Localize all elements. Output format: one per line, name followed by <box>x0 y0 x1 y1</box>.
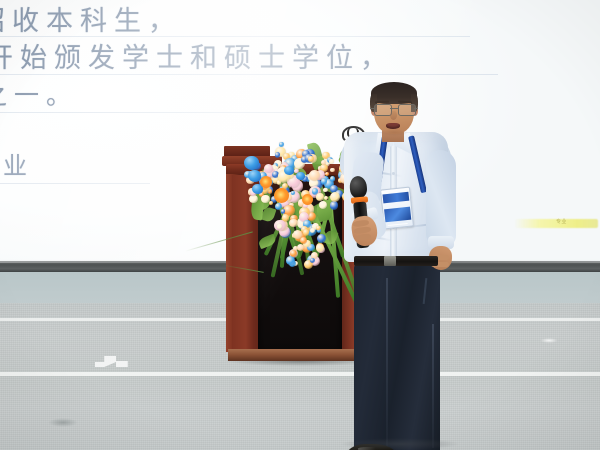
microphone-grille <box>349 175 368 198</box>
bouquet-flower <box>286 256 295 265</box>
bouquet-flower <box>310 258 315 263</box>
arm-right <box>426 150 456 246</box>
bouquet-flower <box>289 219 298 228</box>
bouquet-flower-orange <box>260 176 272 188</box>
bouquet-flower-blue <box>248 170 261 182</box>
bouquet-flower <box>261 195 270 204</box>
trousers <box>354 264 440 450</box>
bouquet-flower-orange <box>302 194 313 205</box>
belt <box>354 256 438 266</box>
bouquet-flower-blue <box>244 156 259 170</box>
eyeglass-lens-right <box>398 104 416 116</box>
floor-line-marking <box>0 372 600 376</box>
nose <box>390 111 397 120</box>
bouquet-flower <box>279 142 283 146</box>
presenter-shadow <box>340 438 460 450</box>
bouquet-flower <box>290 250 297 257</box>
trouser-crease <box>386 278 388 448</box>
eyeglass-temple-left <box>370 108 374 109</box>
belt-buckle <box>384 256 396 266</box>
bouquet-flower <box>275 152 281 158</box>
floor-highlight <box>540 338 558 343</box>
photo-scene: 招收本科生， 开始颁发学士和硕士学位， 之一。 专业 专业 <box>0 0 600 450</box>
bouquet-flower-blue <box>296 172 305 180</box>
badge-header-band <box>383 192 410 204</box>
shirt-button <box>392 172 395 175</box>
floor-scuff <box>48 418 78 427</box>
bouquet-flower <box>300 237 307 244</box>
bouquet-flower <box>308 156 313 161</box>
eyeglass-bridge <box>390 108 398 109</box>
bouquet-flower <box>277 224 281 228</box>
bouquet-flower <box>316 193 323 200</box>
bouquet-flower <box>323 188 328 193</box>
badge-body-band <box>384 207 411 223</box>
chin-shading <box>380 129 408 136</box>
finger <box>356 233 372 241</box>
bouquet-flower <box>269 201 274 206</box>
bouquet-flower <box>310 228 315 233</box>
eyeglass-temple-right <box>414 108 418 109</box>
bouquet-flower <box>316 244 323 251</box>
bouquet-flower <box>297 244 304 251</box>
presenter <box>330 80 460 450</box>
bouquet-flower <box>325 172 329 176</box>
bouquet-flower-orange <box>274 188 289 203</box>
bouquet-flower-blue <box>284 166 294 175</box>
trouser-crease <box>432 324 434 448</box>
badge-text-line <box>388 223 408 226</box>
bouquet-flower <box>316 226 321 231</box>
bouquet-flower <box>281 209 285 213</box>
